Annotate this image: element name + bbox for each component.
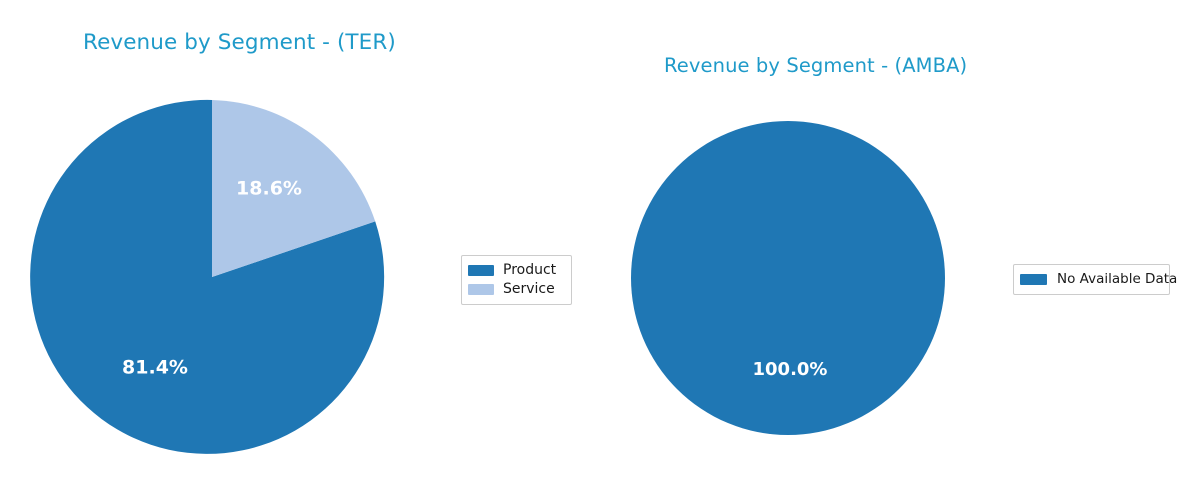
legend-label-no-available-data: No Available Data xyxy=(1057,271,1177,288)
legend-ter: Product Service xyxy=(461,255,572,305)
legend-label-service: Service xyxy=(503,281,555,298)
legend-swatch-product-icon xyxy=(468,265,494,276)
pie-label-product: 81.4% xyxy=(122,357,188,379)
pie-chart-ter: 18.6% 81.4% xyxy=(0,0,600,492)
figure-canvas: Revenue by Segment - (TER) 18.6% 81.4% P… xyxy=(0,0,1200,492)
pie-label-no-available-data: 100.0% xyxy=(753,359,828,380)
chart-panel-ter: Revenue by Segment - (TER) 18.6% 81.4% P… xyxy=(0,0,600,492)
legend-amba: No Available Data xyxy=(1013,264,1170,295)
legend-item-product[interactable]: Product xyxy=(468,261,564,280)
legend-swatch-service-icon xyxy=(468,284,494,295)
pie-slice-no-available-data[interactable] xyxy=(631,121,945,435)
legend-label-product: Product xyxy=(503,262,556,279)
legend-swatch-no-available-data-icon xyxy=(1020,274,1047,285)
pie-label-service: 18.6% xyxy=(236,178,302,200)
pie-chart-amba: 100.0% xyxy=(600,0,1200,492)
chart-panel-amba: Revenue by Segment - (AMBA) 100.0% No Av… xyxy=(600,0,1200,492)
legend-item-no-available-data[interactable]: No Available Data xyxy=(1020,270,1162,289)
legend-item-service[interactable]: Service xyxy=(468,280,564,299)
